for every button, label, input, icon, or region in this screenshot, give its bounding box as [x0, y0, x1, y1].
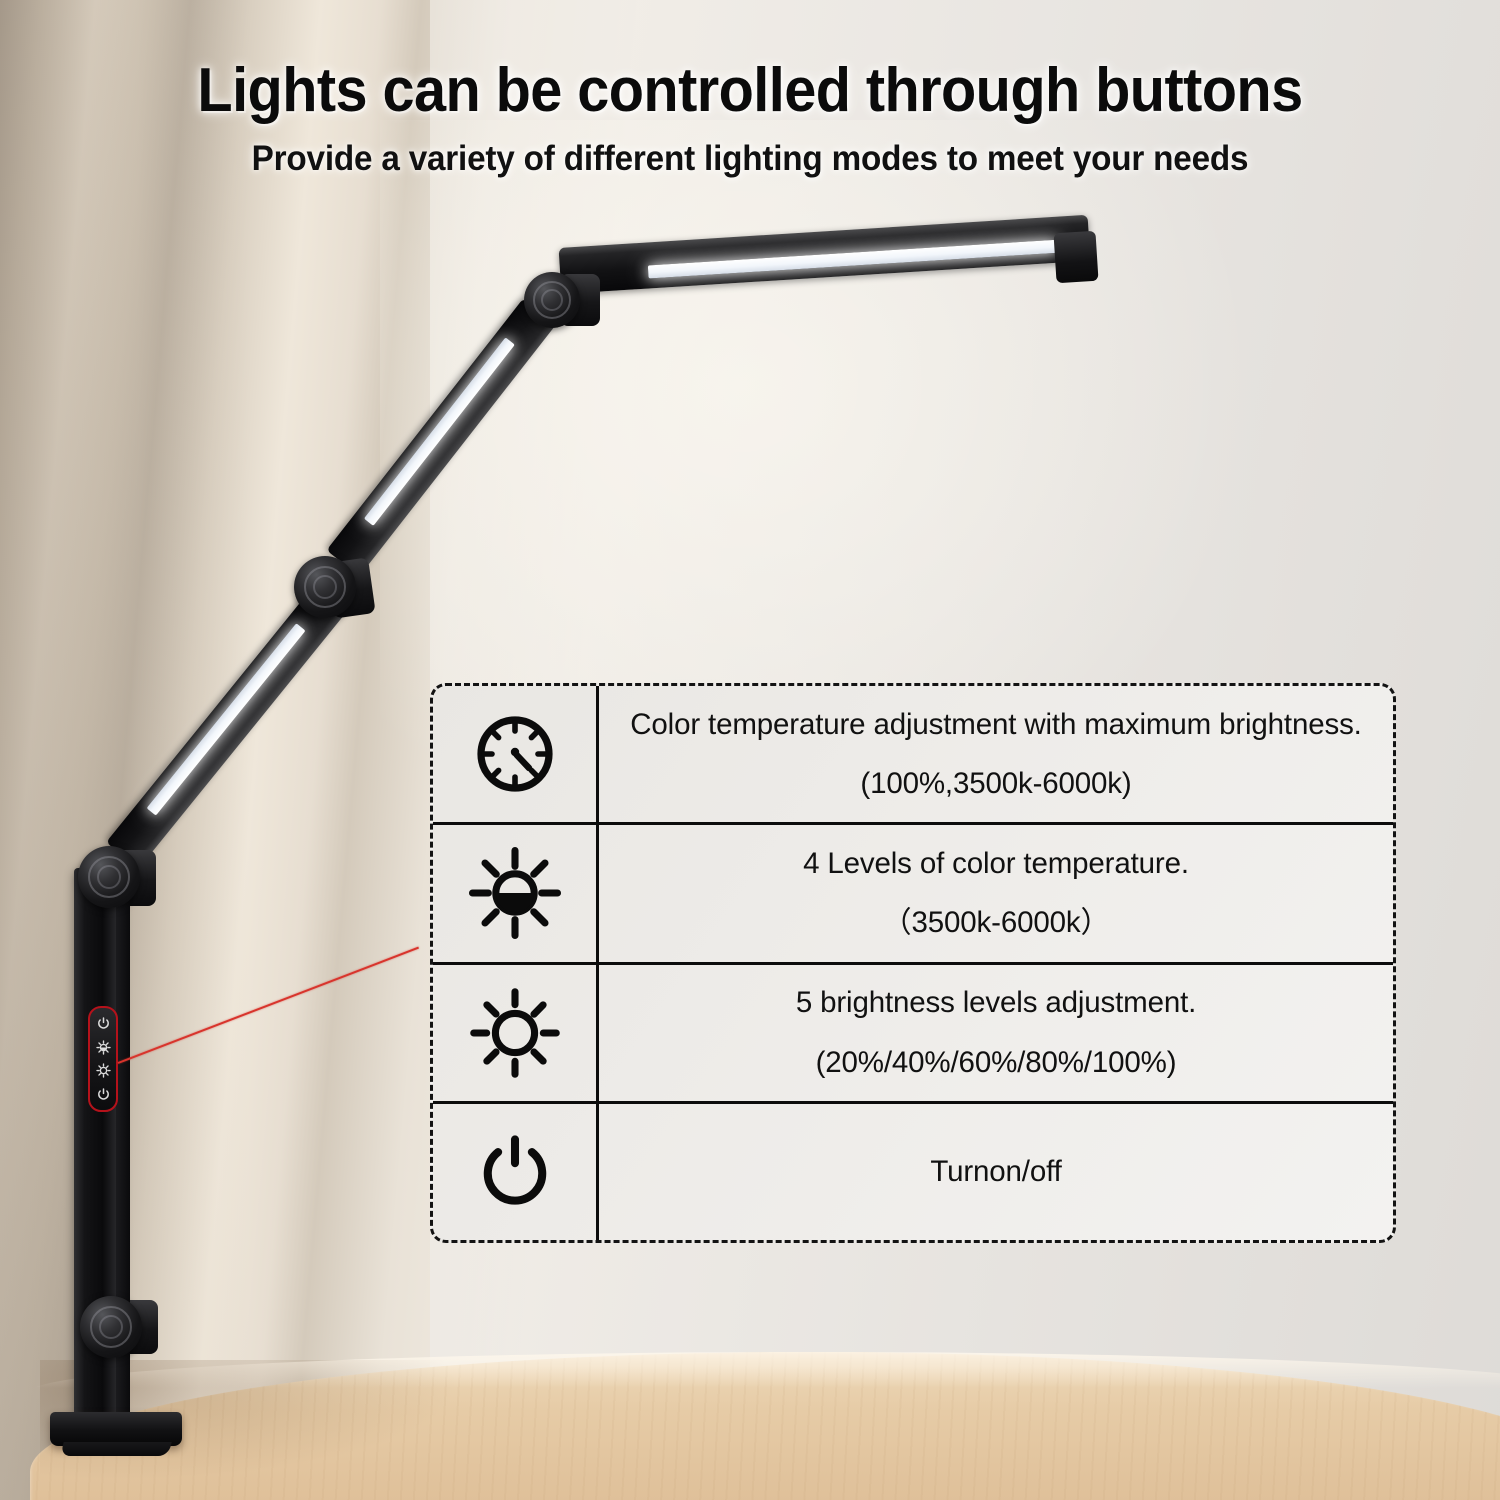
- lamp-lower-joint-knob[interactable]: [78, 846, 140, 908]
- feature-primary-text: Turnon/off: [930, 1152, 1061, 1192]
- feature-primary-text: 5 brightness levels adjustment.: [796, 983, 1196, 1023]
- lamp-clamp-lip: [60, 1442, 171, 1456]
- table-row: Turnon/off: [433, 1104, 1393, 1240]
- lamp-control-panel[interactable]: [88, 1006, 118, 1112]
- color-temperature-button[interactable]: [96, 1040, 111, 1055]
- power-button[interactable]: [96, 1016, 111, 1031]
- feature-table: Color temperature adjustment with maximu…: [430, 683, 1396, 1243]
- sun-rays-icon: [433, 965, 599, 1101]
- feature-primary-text: 4 Levels of color temperature.: [803, 844, 1189, 884]
- lamp-desk-clamp: [50, 1412, 182, 1446]
- brightness-button[interactable]: [96, 1063, 111, 1078]
- feature-secondary-text: (100%,3500k-6000k): [860, 764, 1131, 804]
- table-row: 5 brightness levels adjustment. (20%/40%…: [433, 965, 1393, 1104]
- lamp-head-joint-knob[interactable]: [524, 272, 580, 328]
- power-icon: [433, 1104, 599, 1240]
- table-cell-text: Turnon/off: [599, 1104, 1393, 1240]
- table-cell-text: 4 Levels of color temperature. （3500k-60…: [599, 825, 1393, 961]
- table-cell-text: 5 brightness levels adjustment. (20%/40%…: [599, 965, 1393, 1101]
- lamp-base-joint-knob[interactable]: [80, 1296, 142, 1358]
- table-cell-text: Color temperature adjustment with maximu…: [599, 686, 1393, 822]
- lamp-middle-joint-knob[interactable]: [294, 556, 356, 618]
- infographic-canvas: Lights can be controlled through buttons…: [0, 0, 1500, 1500]
- mode-button[interactable]: [96, 1087, 111, 1102]
- table-row: 4 Levels of color temperature. （3500k-60…: [433, 825, 1393, 964]
- gauge-dial-icon: [433, 686, 599, 822]
- lamp-head-end-cap: [1053, 231, 1098, 284]
- table-row: Color temperature adjustment with maximu…: [433, 686, 1393, 825]
- half-filled-sun-icon: [433, 825, 599, 961]
- feature-secondary-text: (20%/40%/60%/80%/100%): [816, 1043, 1177, 1083]
- feature-secondary-text: （3500k-6000k）: [882, 903, 1110, 943]
- feature-primary-text: Color temperature adjustment with maximu…: [630, 705, 1361, 745]
